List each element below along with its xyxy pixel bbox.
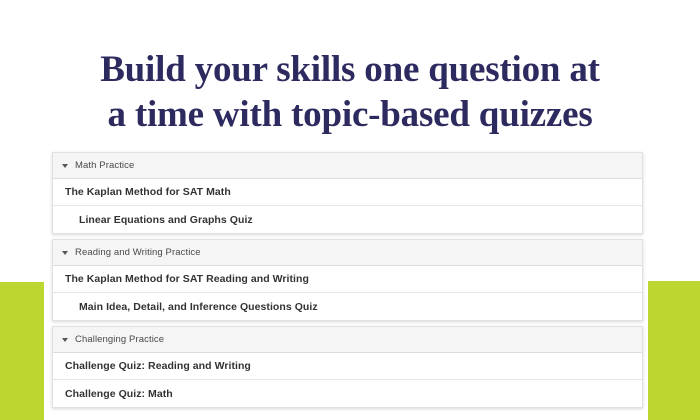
quiz-group: Math PracticeThe Kaplan Method for SAT M… [52,152,643,234]
quiz-group-title: Challenging Practice [75,334,164,345]
quiz-group-header[interactable]: Math Practice [53,153,642,179]
caret-down-icon[interactable] [62,251,68,255]
quiz-list-item[interactable]: Linear Equations and Graphs Quiz [53,206,642,233]
headline-line-2: a time with topic-based quizzes [0,92,700,137]
quiz-group-header[interactable]: Reading and Writing Practice [53,240,642,266]
quiz-list-item-label: Challenge Quiz: Reading and Writing [53,360,251,372]
green-accent-block-left [0,282,44,420]
caret-down-icon[interactable] [62,164,68,168]
quiz-list-item-label: Challenge Quiz: Math [53,388,173,400]
quiz-list-item[interactable]: The Kaplan Method for SAT Math [53,179,642,206]
quiz-list-item-label: Linear Equations and Graphs Quiz [53,214,253,226]
headline-line-1: Build your skills one question at [0,47,700,92]
quiz-group-title: Reading and Writing Practice [75,247,201,258]
quiz-list-item-label: The Kaplan Method for SAT Math [53,186,231,198]
caret-down-icon[interactable] [62,338,68,342]
quiz-group: Reading and Writing PracticeThe Kaplan M… [52,239,643,321]
quiz-list-item[interactable]: Main Idea, Detail, and Inference Questio… [53,293,642,320]
quiz-list-item[interactable]: Challenge Quiz: Math [53,380,642,407]
quiz-list-item[interactable]: Challenge Quiz: Reading and Writing [53,353,642,380]
quiz-list-item-label: The Kaplan Method for SAT Reading and Wr… [53,273,309,285]
quiz-list-card: Math PracticeThe Kaplan Method for SAT M… [52,152,643,413]
green-accent-block-right [648,281,700,420]
quiz-list-item-label: Main Idea, Detail, and Inference Questio… [53,301,318,313]
quiz-group: Challenging PracticeChallenge Quiz: Read… [52,326,643,408]
quiz-list-item[interactable]: The Kaplan Method for SAT Reading and Wr… [53,266,642,293]
page-headline: Build your skills one question at a time… [0,47,700,137]
quiz-group-title: Math Practice [75,160,134,171]
quiz-group-header[interactable]: Challenging Practice [53,327,642,353]
